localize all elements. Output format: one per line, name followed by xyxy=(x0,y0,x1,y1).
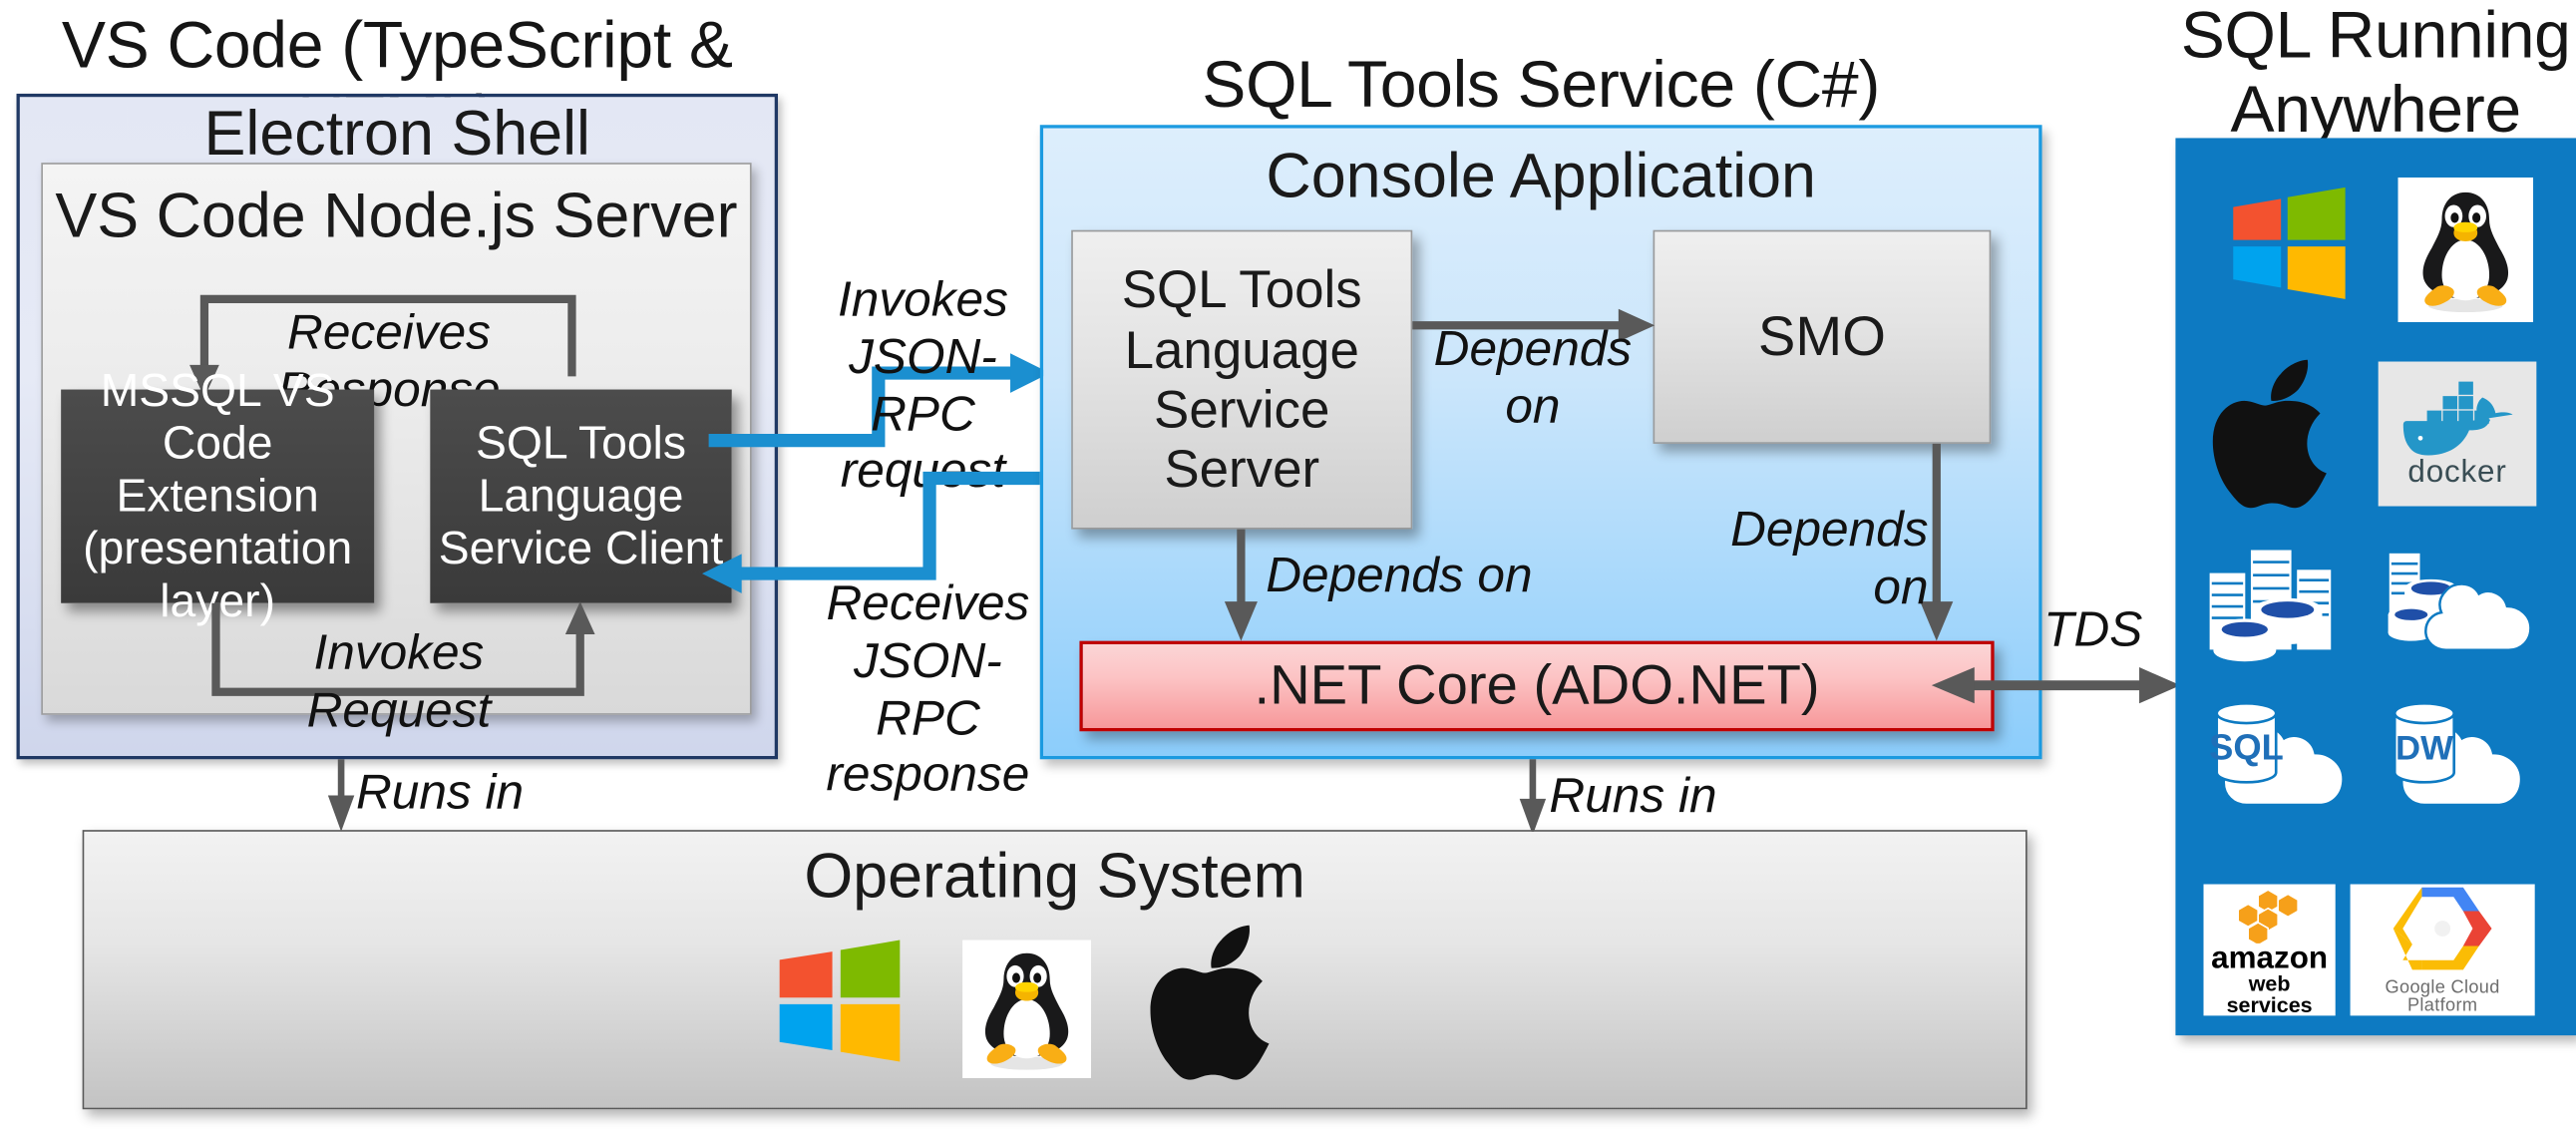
label-invokes-json-rpc-request: Invokes JSON- RPC request xyxy=(791,273,1054,502)
label-depends-on-netcore-left: Depends on xyxy=(1266,549,1562,605)
label-tds: TDS xyxy=(2003,603,2184,660)
azure-vm-sql-icon xyxy=(2379,546,2543,667)
windows-logo xyxy=(2227,186,2353,300)
google-cloud-platform-logo: Google Cloud Platform xyxy=(2351,885,2535,1016)
console-application-title: Console Application xyxy=(1040,145,2042,213)
heading-sql-running-anywhere: SQL Running Anywhere xyxy=(2175,0,2576,148)
heading-sql-tools-service: SQL Tools Service (C#) xyxy=(1040,49,2042,123)
aws-logo-label-2: web services xyxy=(2204,975,2336,1016)
box-net-core-ado-net-label: .NET Core (ADO.NET) xyxy=(1254,654,1819,718)
google-cloud-platform-label: Google Cloud Platform xyxy=(2351,979,2535,1015)
box-mssql-vscode-extension[interactable]: MSSQL VS Code Extension (presentation la… xyxy=(61,390,374,603)
linux-tux-logo xyxy=(2398,178,2534,322)
apple-logo xyxy=(1144,924,1286,1081)
architecture-diagram: VS Code (TypeScript & HTML) SQL Tools Se… xyxy=(0,0,2576,1134)
box-smo[interactable]: SMO xyxy=(1654,230,1992,444)
on-premises-datacenter-icon xyxy=(2200,539,2359,667)
box-sql-tools-language-service-client-label: SQL Tools Language Service Client xyxy=(439,418,723,575)
windows-logo xyxy=(770,937,909,1065)
linux-tux-logo xyxy=(962,941,1091,1078)
box-net-core-ado-net[interactable]: .NET Core (ADO.NET) xyxy=(1079,641,1994,732)
azure-sql-data-warehouse-label: DW xyxy=(2395,729,2453,767)
apple-logo xyxy=(2204,358,2346,510)
docker-logo-label: docker xyxy=(2407,455,2506,491)
aws-logo: amazon web services xyxy=(2204,885,2336,1016)
box-sql-tools-language-service-server[interactable]: SQL Tools Language Service Server xyxy=(1071,230,1412,530)
label-receives-json-rpc-response: Receives JSON- RPC response xyxy=(788,576,1068,805)
label-invokes-request: Invokes Request xyxy=(224,626,573,741)
box-sql-tools-language-service-server-label: SQL Tools Language Service Server xyxy=(1073,259,1411,499)
aws-logo-label-1: amazon xyxy=(2211,945,2328,975)
label-depends-on-smo: Depends on xyxy=(1421,322,1646,437)
azure-sql-database-icon: SQL xyxy=(2200,690,2365,828)
docker-logo: docker xyxy=(2379,362,2537,507)
azure-sql-data-warehouse-icon: DW xyxy=(2379,690,2543,828)
label-depends-on-netcore-right: Depends on xyxy=(1681,503,1929,617)
node-server-title: VS Code Node.js Server xyxy=(41,185,751,253)
box-sql-tools-language-service-client[interactable]: SQL Tools Language Service Client xyxy=(430,390,731,603)
operating-system-title: Operating System xyxy=(83,845,2027,914)
label-runs-in-service: Runs in xyxy=(1549,769,1796,826)
box-mssql-vscode-extension-label: MSSQL VS Code Extension (presentation la… xyxy=(61,365,374,627)
azure-sql-database-label: SQL xyxy=(2209,726,2284,767)
box-smo-label: SMO xyxy=(1758,305,1886,369)
electron-shell-title: Electron Shell xyxy=(17,102,778,171)
label-runs-in-vscode: Runs in xyxy=(356,766,603,823)
